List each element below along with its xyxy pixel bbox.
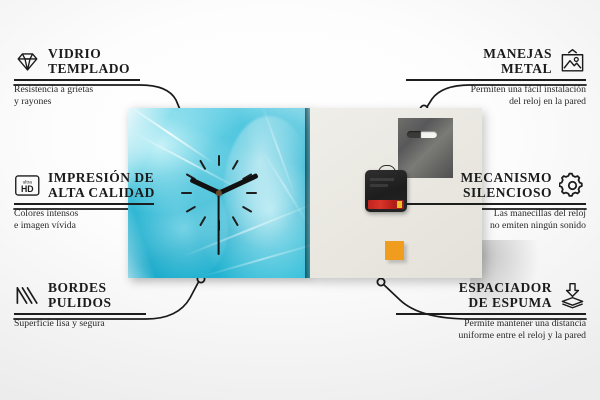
- feature-impresion-alta-calidad: ultra HD IMPRESIÓN DE ALTA CALIDAD Color…: [14, 171, 194, 233]
- picture-frame-hanger-icon: [559, 48, 586, 75]
- svg-text:HD: HD: [21, 184, 34, 194]
- feature-mecanismo-silencioso: MECANISMO SILENCIOSO Las manecillas del …: [406, 171, 586, 233]
- feature-description: Superficie lisa y segura: [14, 318, 189, 331]
- mechanism-detail: [370, 184, 388, 187]
- battery: [368, 200, 404, 209]
- ultra-hd-icon: ultra HD: [14, 172, 41, 199]
- feature-title-line2: ALTA CALIDAD: [48, 186, 155, 201]
- divider: [406, 203, 586, 204]
- feature-description: Permite mantener una distancia uniforme …: [396, 318, 586, 344]
- feature-espaciador-espuma: ESPACIADOR DE ESPUMA Permite mantener un…: [396, 281, 586, 343]
- hanger-slot: [407, 131, 437, 138]
- clock-pivot: [216, 190, 222, 196]
- feature-title-line1: ESPACIADOR: [459, 281, 552, 296]
- foam-spacer-arrow-icon: [559, 282, 586, 309]
- polished-edges-icon: [14, 282, 41, 309]
- feature-title-line2: PULIDOS: [48, 296, 112, 311]
- diamond-icon: [14, 48, 41, 75]
- mechanism-hook: [378, 165, 396, 175]
- connector-dot-espaciador: [377, 278, 384, 285]
- clock-hand-second: [218, 193, 220, 255]
- metal-hanger-plate: [398, 118, 453, 178]
- feature-description: Permiten una fácil instalación del reloj…: [406, 84, 586, 110]
- feature-bordes-pulidos: BORDES PULIDOS Superficie lisa y segura: [14, 281, 189, 330]
- feature-description: Resistencia a grietas y rayones: [14, 84, 184, 110]
- divider: [406, 79, 586, 80]
- feature-description: Colores intensos e imagen vívida: [14, 208, 194, 234]
- divider: [14, 79, 140, 80]
- feature-title-line1: MECANISMO: [461, 171, 553, 186]
- battery-terminal: [397, 201, 402, 208]
- infographic-canvas: VIDRIO TEMPLADO Resistencia a grietas y …: [0, 0, 600, 400]
- feature-title-line2: DE ESPUMA: [459, 296, 552, 311]
- feature-title-line1: MANEJAS: [483, 47, 552, 62]
- feature-manejas-metal: MANEJAS METAL Permiten una fácil instala…: [406, 47, 586, 109]
- feature-title-line1: VIDRIO: [48, 47, 130, 62]
- feature-title-line1: IMPRESIÓN DE: [48, 171, 155, 186]
- divider: [396, 313, 586, 314]
- feature-title-line2: METAL: [483, 62, 552, 77]
- gear-icon: [559, 172, 586, 199]
- feature-vidrio-templado: VIDRIO TEMPLADO Resistencia a grietas y …: [14, 47, 184, 109]
- clock-mechanism: [365, 170, 407, 212]
- feature-title-line2: SILENCIOSO: [461, 186, 553, 201]
- divider: [14, 313, 146, 314]
- feature-description: Las manecillas del reloj no emiten ningú…: [406, 208, 586, 234]
- foam-spacer: [385, 241, 404, 260]
- feature-title-line2: TEMPLADO: [48, 62, 130, 77]
- feature-title-line1: BORDES: [48, 281, 112, 296]
- divider: [14, 203, 154, 204]
- mechanism-detail: [370, 178, 394, 181]
